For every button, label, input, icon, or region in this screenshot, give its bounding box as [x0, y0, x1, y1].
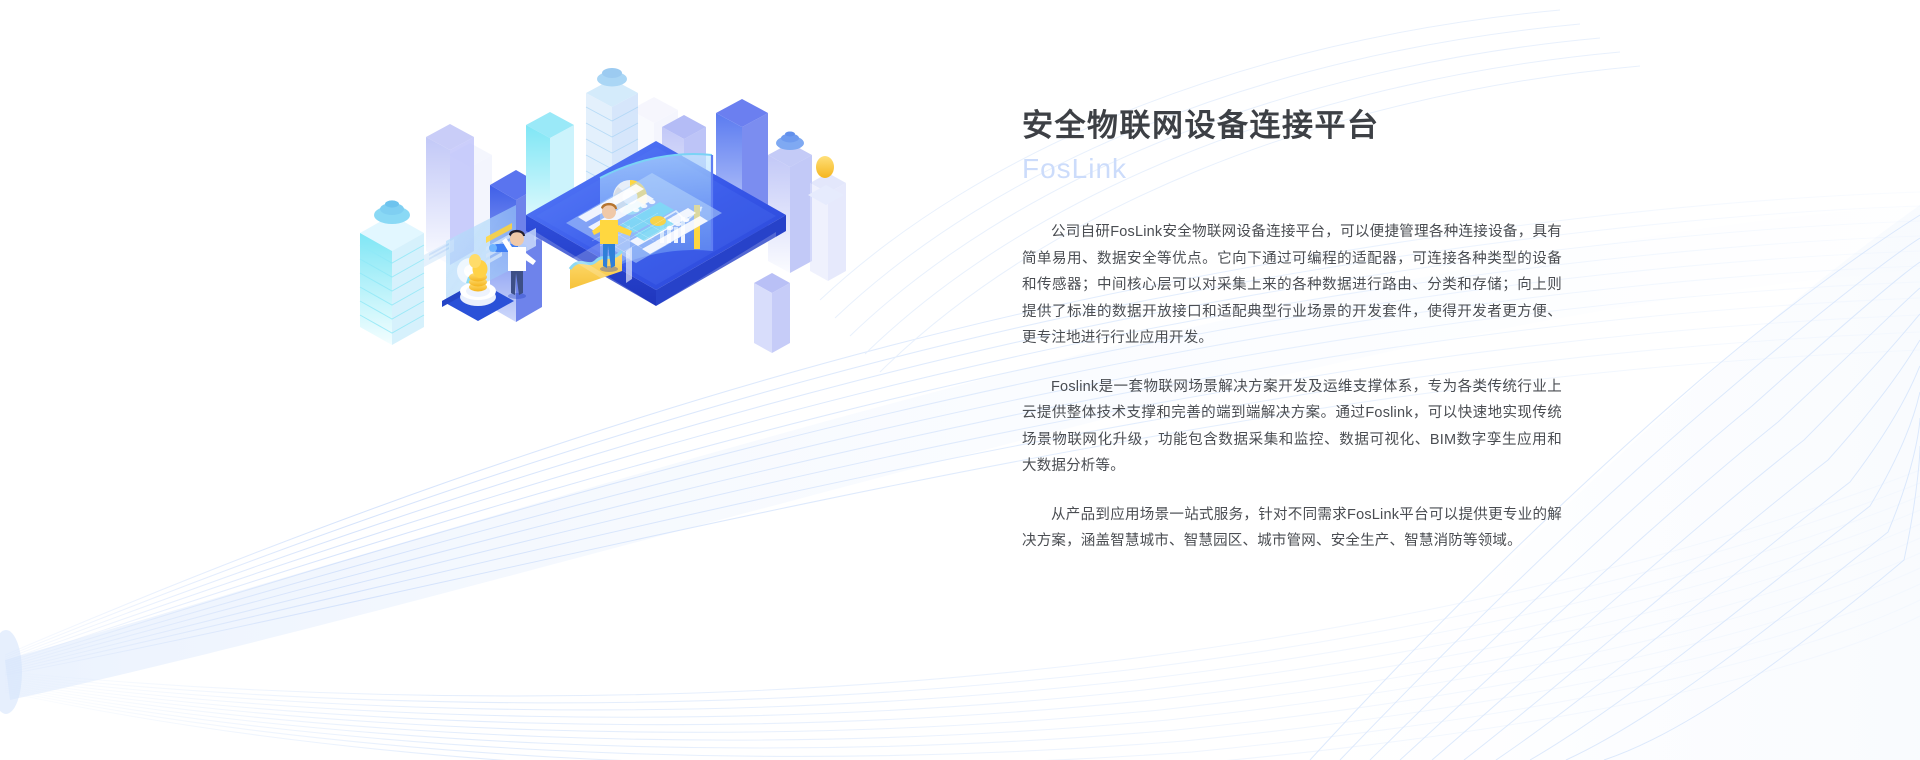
paragraph-1: 公司自研FosLink安全物联网设备连接平台，可以便捷管理各种连接设备，具有简单…	[1022, 219, 1562, 352]
paragraph-2: Foslink是一套物联网场景解决方案开发及运维支撑体系，专为各类传统行业上云提…	[1022, 374, 1562, 480]
description-paragraphs: 公司自研FosLink安全物联网设备连接平台，可以便捷管理各种连接设备，具有简单…	[1022, 219, 1562, 555]
building-tiered-tower-left	[360, 200, 424, 345]
page-subtitle: FosLink	[1022, 149, 1562, 190]
hero-section: 安全物联网设备连接平台 FosLink 公司自研FosLink安全物联网设备连接…	[0, 0, 1920, 760]
page-title: 安全物联网设备连接平台	[1022, 105, 1562, 147]
building-front-right-small	[754, 273, 790, 353]
background-wave-decoration	[0, 0, 1920, 760]
building-round-tower-right	[768, 132, 812, 274]
isometric-platform-illustration	[330, 55, 850, 355]
paragraph-3: 从产品到应用场景一站式服务，针对不同需求FosLink平台可以提供更专业的解决方…	[1022, 502, 1562, 555]
hero-copy: 安全物联网设备连接平台 FosLink 公司自研FosLink安全物联网设备连接…	[1022, 105, 1562, 555]
